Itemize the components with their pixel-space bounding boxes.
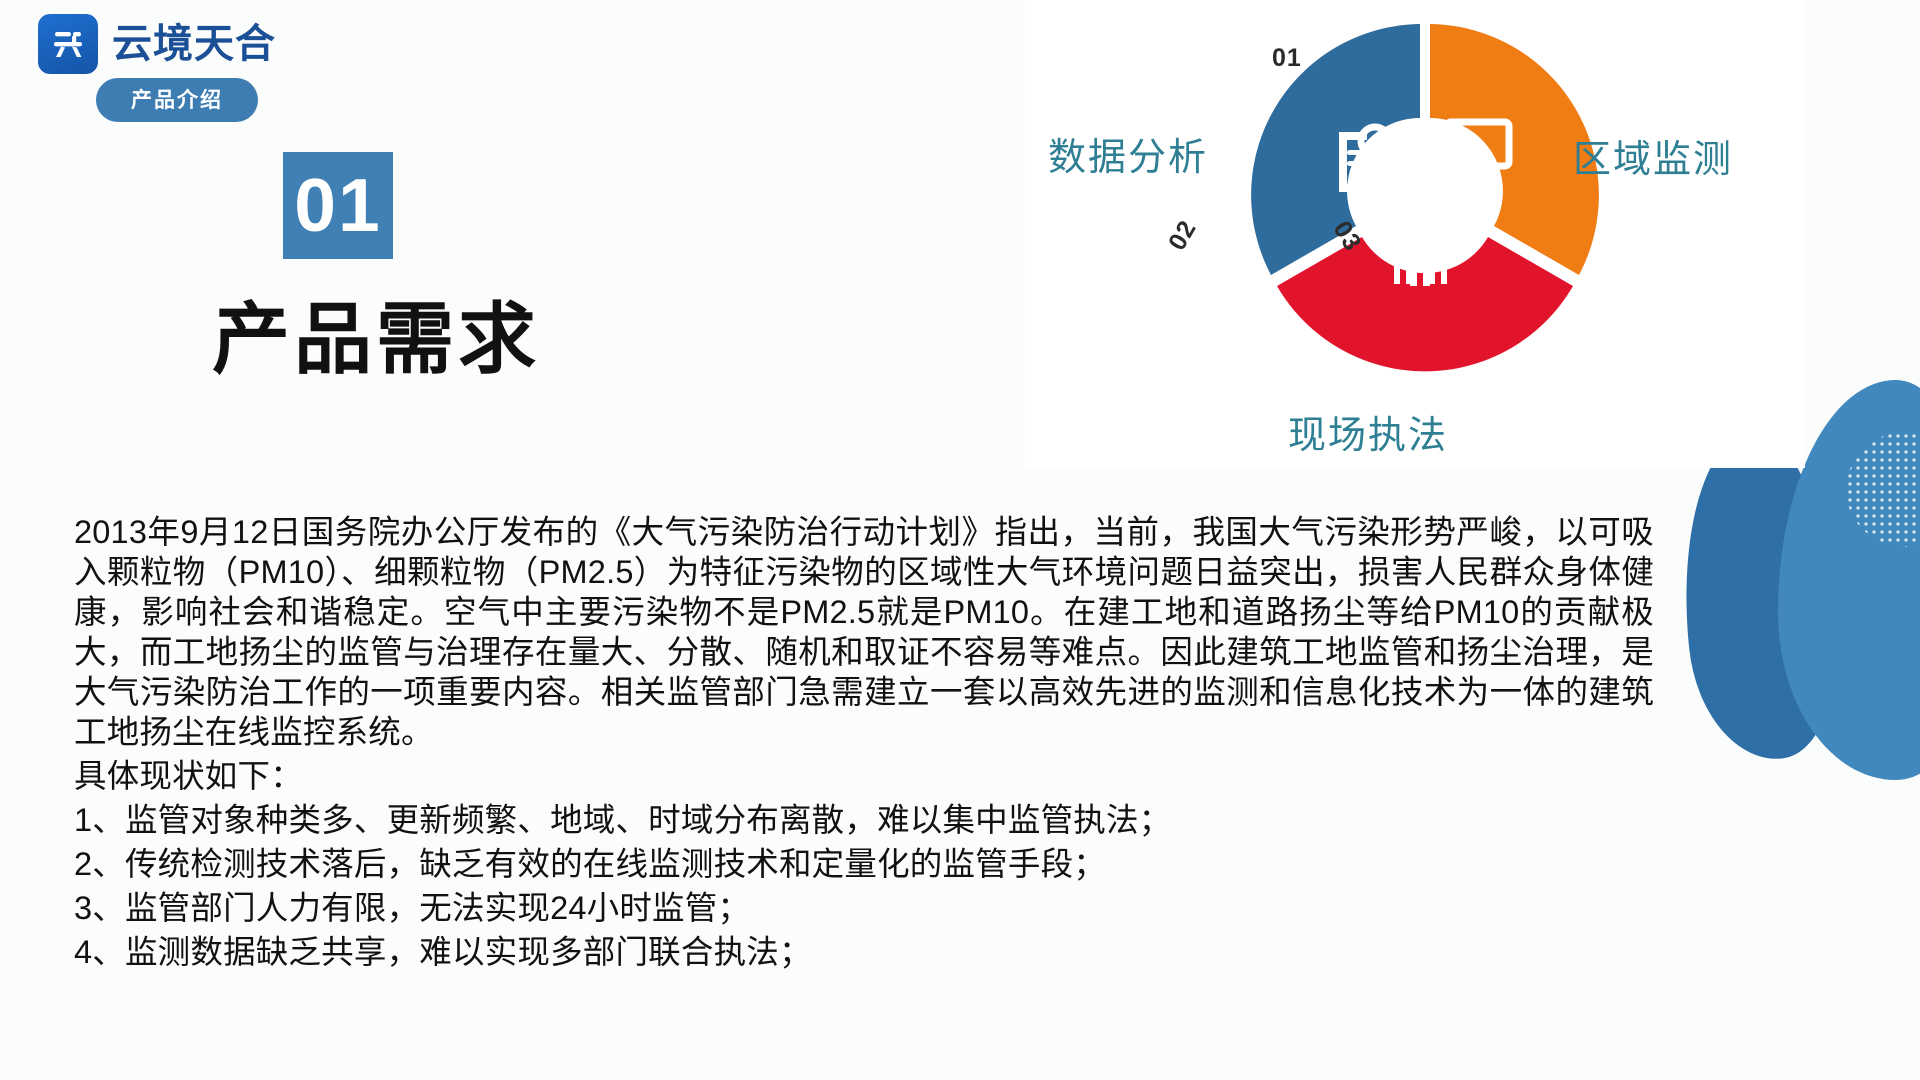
segment-label-onsite-enforcement: 现场执法 xyxy=(1288,404,1448,459)
blob-dark-shape xyxy=(1667,423,1851,767)
blob-dot-pattern xyxy=(1846,432,1920,547)
page-title: 产品需求 xyxy=(212,300,540,378)
list-item: 4、监测数据缺乏共享，难以实现多部门联合执法； xyxy=(74,930,1654,974)
company-mark-icon xyxy=(38,14,98,74)
product-intro-badge[interactable]: 产品介绍 xyxy=(96,78,258,122)
process-infographic xyxy=(1025,0,1805,468)
status-list: 具体现状如下： 1、监管对象种类多、更新频繁、地域、时域分布离散，难以集中监管执… xyxy=(74,754,1654,974)
brand-logo: 云境天合 xyxy=(38,14,276,74)
list-item: 1、监管对象种类多、更新频繁、地域、时域分布离散，难以集中监管执法； xyxy=(74,798,1654,842)
segment-label-area-monitoring: 区域监测 xyxy=(1573,128,1733,183)
list-intro: 具体现状如下： xyxy=(74,754,1654,798)
brand-logo-text: 云境天合 xyxy=(112,24,276,64)
list-item: 3、监管部门人力有限，无法实现24小时监管； xyxy=(74,886,1654,930)
body-paragraph: 2013年9月12日国务院办公厅发布的《大气污染防治行动计划》指出，当前，我国大… xyxy=(74,512,1654,752)
segment-number-01: 01 xyxy=(1272,44,1302,73)
list-item: 2、传统检测技术落后，缺乏有效的在线监测技术和定量化的监管手段； xyxy=(74,842,1654,886)
section-number: 01 xyxy=(294,168,381,243)
slide-canvas: 云境天合 产品介绍 01 产品需求 xyxy=(0,0,1920,1080)
section-number-box: 01 xyxy=(283,152,393,259)
body-content: 2013年9月12日国务院办公厅发布的《大气污染防治行动计划》指出，当前，我国大… xyxy=(74,512,1654,974)
segment-label-data-analysis: 数据分析 xyxy=(1048,126,1208,181)
